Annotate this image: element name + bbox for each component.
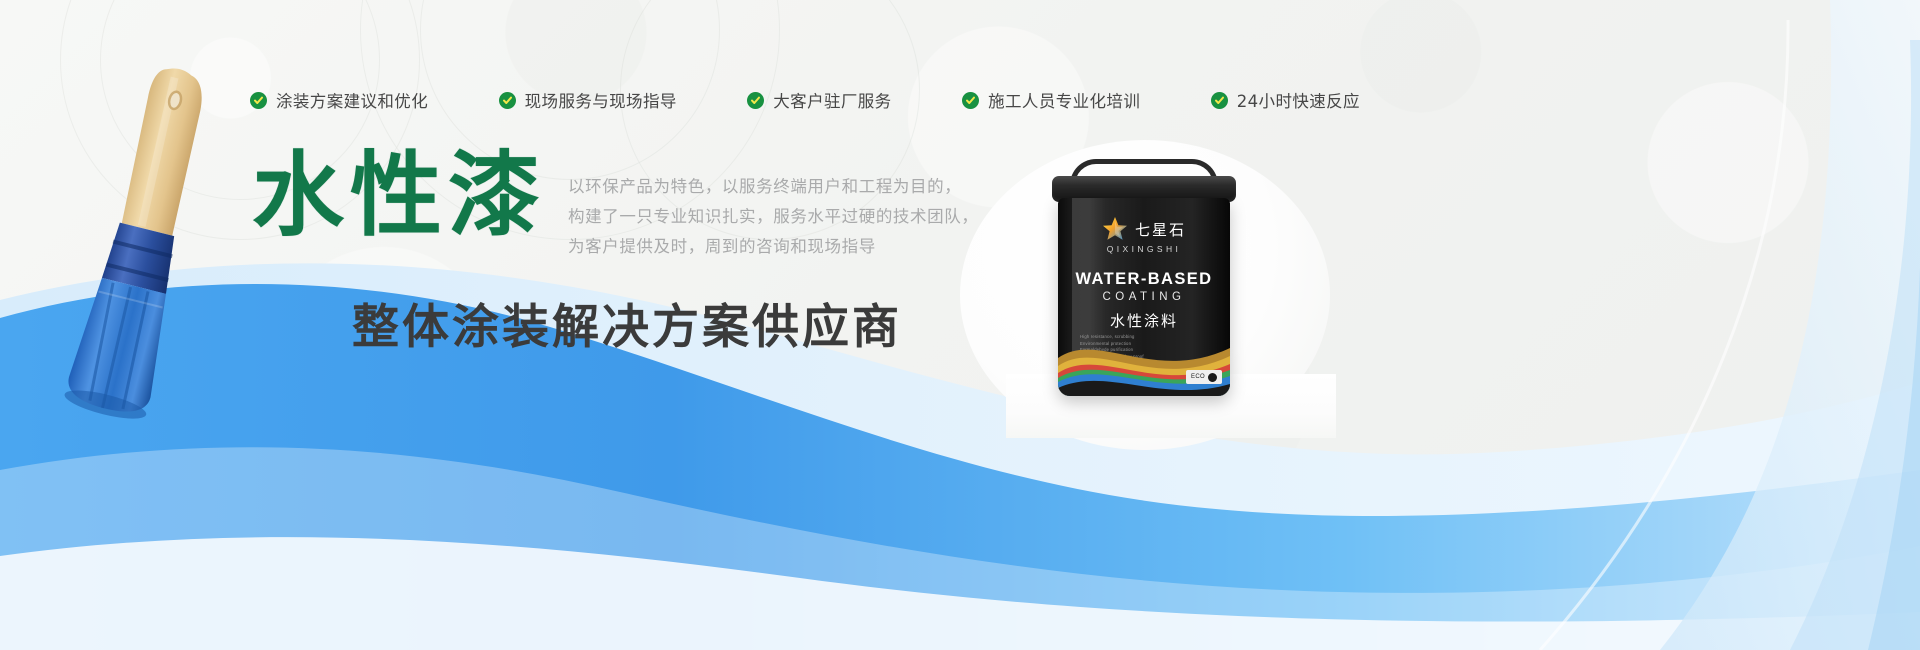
hero-headline-row: 水性漆 以环保产品为特色，以服务终端用户和工程为目的， 构建了一只专业知识扎实，… xyxy=(252,150,978,262)
feature-item-4[interactable]: 施工人员专业化培训 xyxy=(962,88,1140,112)
eco-label: ECO xyxy=(1191,374,1205,380)
eco-dot-icon xyxy=(1208,373,1217,382)
feature-list: 涂装方案建议和优化 现场服务与现场指导 大客户驻厂服务 施工人员专业化培训 24… xyxy=(250,84,1360,116)
feature-item-label: 大客户驻厂服务 xyxy=(773,88,891,112)
hero-banner: 涂装方案建议和优化 现场服务与现场指导 大客户驻厂服务 施工人员专业化培训 24… xyxy=(0,0,1920,650)
product-subtitle-en: COATING xyxy=(1058,291,1230,303)
feature-item-label: 施工人员专业化培训 xyxy=(988,88,1140,112)
check-circle-icon xyxy=(962,92,979,109)
hero-subheadline: 整体涂装解决方案供应商 xyxy=(352,288,902,357)
brand-name-cn: 七星石 xyxy=(1135,219,1186,240)
feature-item-label: 涂装方案建议和优化 xyxy=(276,88,428,112)
brand-name-en: QIXINGSHI xyxy=(1058,244,1230,254)
product-image: 七星石 QIXINGSHI WATER-BASED COATING 水性涂料 H… xyxy=(960,140,1380,450)
rainbow-wave-graphic xyxy=(1058,318,1230,396)
star-logo-icon xyxy=(1102,216,1128,242)
paint-bucket: 七星石 QIXINGSHI WATER-BASED COATING 水性涂料 H… xyxy=(1048,160,1240,410)
hero-description-line: 为客户提供及时，周到的咨询和现场指导 xyxy=(568,232,978,262)
hero-description-line: 以环保产品为特色，以服务终端用户和工程为目的， xyxy=(568,172,978,202)
brand-logo: 七星石 xyxy=(1058,216,1230,242)
check-circle-icon xyxy=(250,92,267,109)
product-title-en: WATER-BASED xyxy=(1058,270,1230,289)
check-circle-icon xyxy=(1211,92,1228,109)
feature-item-2[interactable]: 现场服务与现场指导 xyxy=(499,88,677,112)
bucket-body: 七星石 QIXINGSHI WATER-BASED COATING 水性涂料 H… xyxy=(1058,198,1230,396)
eco-badge: ECO xyxy=(1186,370,1222,384)
feature-item-label: 现场服务与现场指导 xyxy=(525,88,677,112)
hero-description-line: 构建了一只专业知识扎实，服务水平过硬的技术团队， xyxy=(568,202,978,232)
paint-brush-icon xyxy=(38,62,258,422)
feature-item-3[interactable]: 大客户驻厂服务 xyxy=(747,88,891,112)
hero-description: 以环保产品为特色，以服务终端用户和工程为目的， 构建了一只专业知识扎实，服务水平… xyxy=(568,150,978,262)
feature-item-1[interactable]: 涂装方案建议和优化 xyxy=(250,88,428,112)
check-circle-icon xyxy=(499,92,516,109)
feature-item-label: 24小时快速反应 xyxy=(1237,88,1360,112)
check-circle-icon xyxy=(747,92,764,109)
feature-item-5[interactable]: 24小时快速反应 xyxy=(1211,88,1360,112)
hero-headline: 水性漆 xyxy=(252,150,546,242)
